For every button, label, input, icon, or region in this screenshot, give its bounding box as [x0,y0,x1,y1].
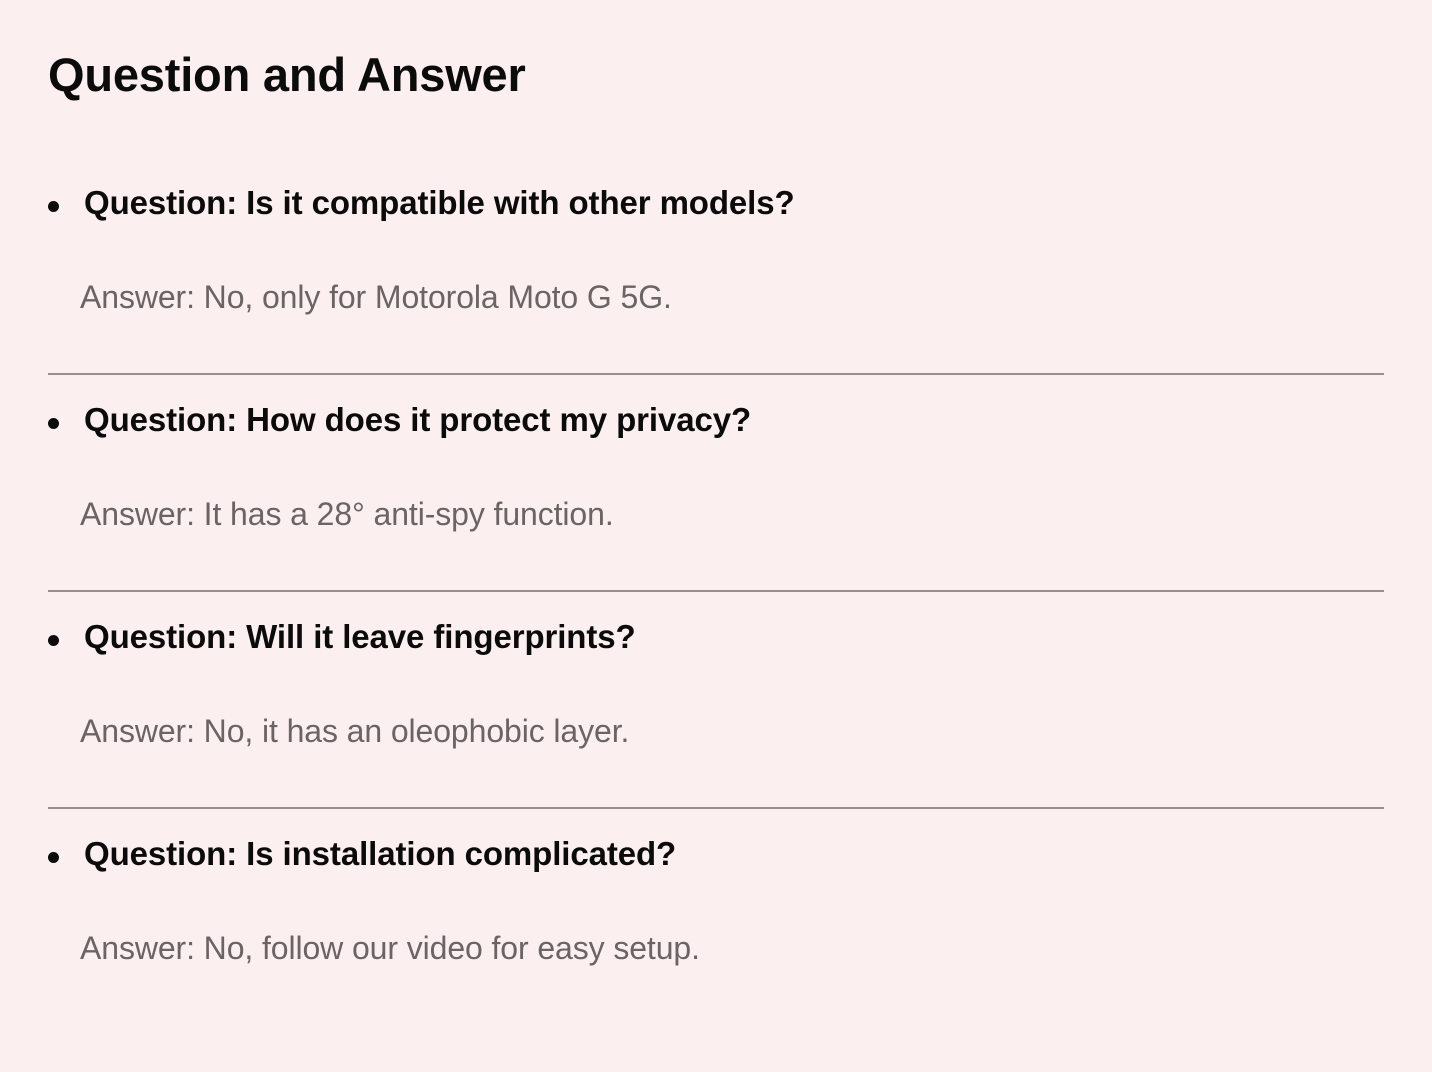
faq-question-row: Question: Is installation complicated? [0,809,1432,875]
faq-question-row: Question: Will it leave fingerprints? [0,592,1432,658]
faq-question: Question: Is installation complicated? [84,833,1432,875]
bullet-dot-icon [48,201,59,212]
faq-answer: Answer: No, it has an oleophobic layer. [80,710,1432,752]
page-title: Question and Answer [48,44,526,106]
faq-question: Question: Is it compatible with other mo… [84,182,1432,224]
faq-item: Question: How does it protect my privacy… [0,375,1432,592]
question-and-answer-panel: Question and Answer Question: Is it comp… [0,0,1432,1072]
bullet-dot-icon [48,418,59,429]
faq-answer: Answer: No, only for Motorola Moto G 5G. [80,276,1432,318]
faq-question-row: Question: Is it compatible with other mo… [0,158,1432,224]
faq-question: Question: Will it leave fingerprints? [84,616,1432,658]
faq-answer: Answer: It has a 28° anti-spy function. [80,493,1432,535]
faq-list: Question: Is it compatible with other mo… [0,158,1432,1009]
faq-answer: Answer: No, follow our video for easy se… [80,927,1432,969]
bullet-dot-icon [48,852,59,863]
faq-question-row: Question: How does it protect my privacy… [0,375,1432,441]
faq-question: Question: How does it protect my privacy… [84,399,1432,441]
bullet-dot-icon [48,635,59,646]
faq-item: Question: Is installation complicated? A… [0,809,1432,1009]
faq-item: Question: Will it leave fingerprints? An… [0,592,1432,809]
faq-item: Question: Is it compatible with other mo… [0,158,1432,375]
